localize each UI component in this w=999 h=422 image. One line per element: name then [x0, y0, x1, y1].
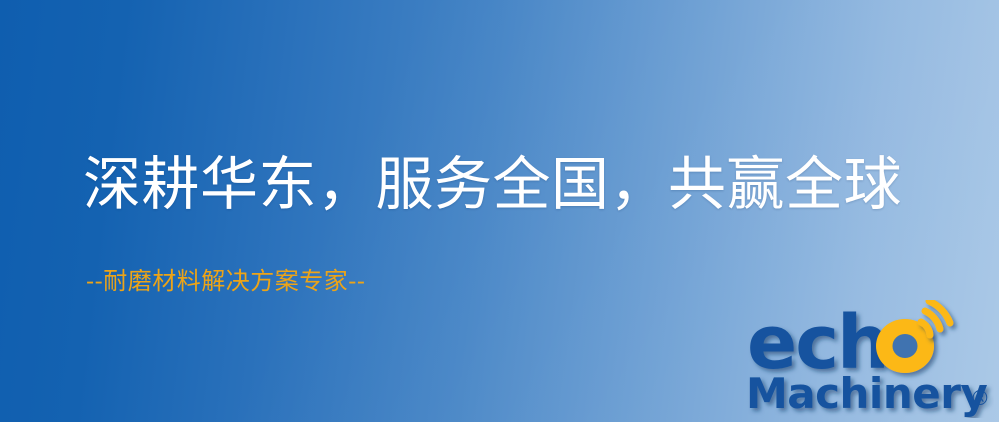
- echo-machinery-logo: ech Machinery ®: [742, 300, 994, 418]
- banner-headline: 深耕华东，服务全国，共赢全球: [83, 155, 902, 213]
- registered-trademark-mark: ®: [970, 386, 990, 410]
- logo-tagline-machinery: Machinery ®: [746, 369, 990, 418]
- svg-text:Machinery: Machinery: [746, 369, 987, 418]
- banner-subtitle: --耐磨材料解决方案专家--: [86, 269, 365, 293]
- logo-svg: ech Machinery ®: [742, 300, 994, 418]
- signal-waves-icon: [921, 301, 950, 335]
- promo-banner: 深耕华东，服务全国，共赢全球 --耐磨材料解决方案专家-- ech: [0, 0, 999, 422]
